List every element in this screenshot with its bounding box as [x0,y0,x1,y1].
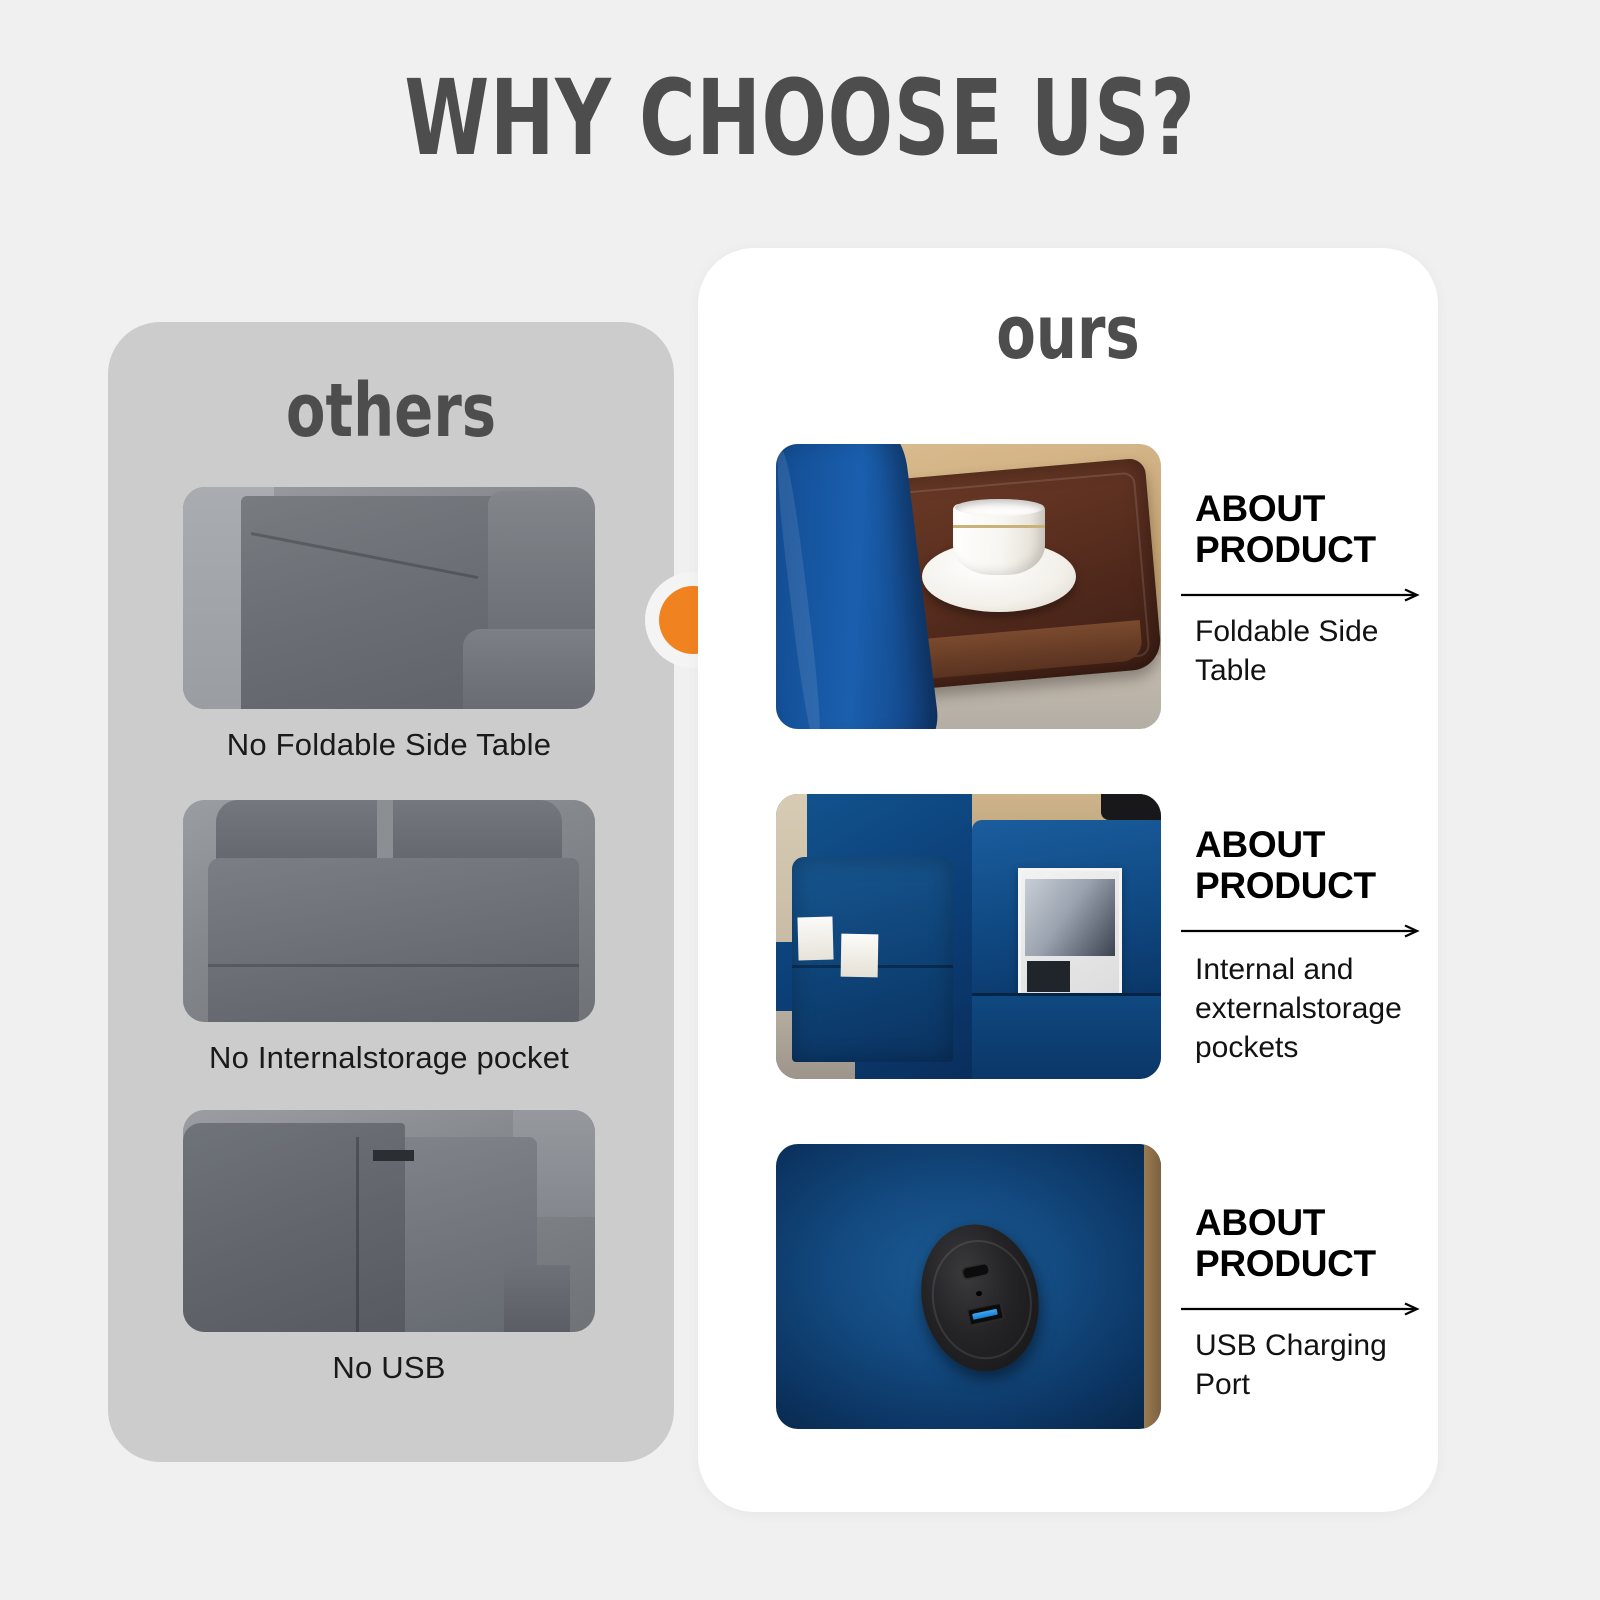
feature-text-block: ABOUT PRODUCT Internal and externalstora… [1181,794,1441,1079]
about-line-2: PRODUCT [1195,1243,1376,1284]
gray-sofa-side-no-usb-image [183,1110,595,1332]
arrow-right-icon [1181,1302,1424,1316]
about-line-1: ABOUT [1195,824,1325,865]
ours-panel: ours ABOUT PRODUCT [698,248,1438,1512]
arrow-right-icon [1181,588,1424,602]
others-item: No Internalstorage pocket [183,800,595,1076]
feature-row: ABOUT PRODUCT Internal and externalstora… [776,794,1416,1079]
foldable-side-table-image [776,444,1161,729]
arrow-right-icon [1181,924,1424,938]
panel-divider-strip [676,250,698,1512]
others-item-caption: No Internalstorage pocket [183,1040,595,1076]
about-line-2: PRODUCT [1195,529,1376,570]
about-line-2: PRODUCT [1195,865,1376,906]
others-item-caption: No USB [183,1350,595,1386]
page-title: WHY CHOOSE US? [208,66,1392,170]
feature-row: ABOUT PRODUCT USB Charging Port [776,1144,1416,1429]
others-item: No Foldable Side Table [183,487,595,763]
about-product-label: ABOUT PRODUCT [1195,488,1376,571]
feature-text-block: ABOUT PRODUCT USB Charging Port [1181,1144,1441,1429]
gray-sofa-seat-no-pocket-image [183,800,595,1022]
others-panel: others No Foldable Side Table No I [108,322,674,1462]
about-product-label: ABOUT PRODUCT [1195,1202,1376,1285]
feature-text-block: ABOUT PRODUCT Foldable Side Table [1181,444,1441,729]
others-heading: others [170,374,611,448]
others-item: No USB [183,1110,595,1386]
about-line-1: ABOUT [1195,1202,1325,1243]
gray-sofa-arm-no-table-image [183,487,595,709]
usb-charging-port-image [776,1144,1161,1429]
others-item-caption: No Foldable Side Table [183,727,595,763]
storage-pockets-image [776,794,1161,1079]
about-product-label: ABOUT PRODUCT [1195,824,1376,907]
ours-heading: ours [779,296,1356,370]
feature-description: USB Charging Port [1195,1326,1447,1404]
about-line-1: ABOUT [1195,488,1325,529]
feature-description: Internal and externalstorage pockets [1195,950,1447,1067]
infographic-page: WHY CHOOSE US? others No Foldable Side T… [0,0,1600,1600]
feature-description: Foldable Side Table [1195,612,1447,690]
feature-row: ABOUT PRODUCT Foldable Side Table [776,444,1416,729]
